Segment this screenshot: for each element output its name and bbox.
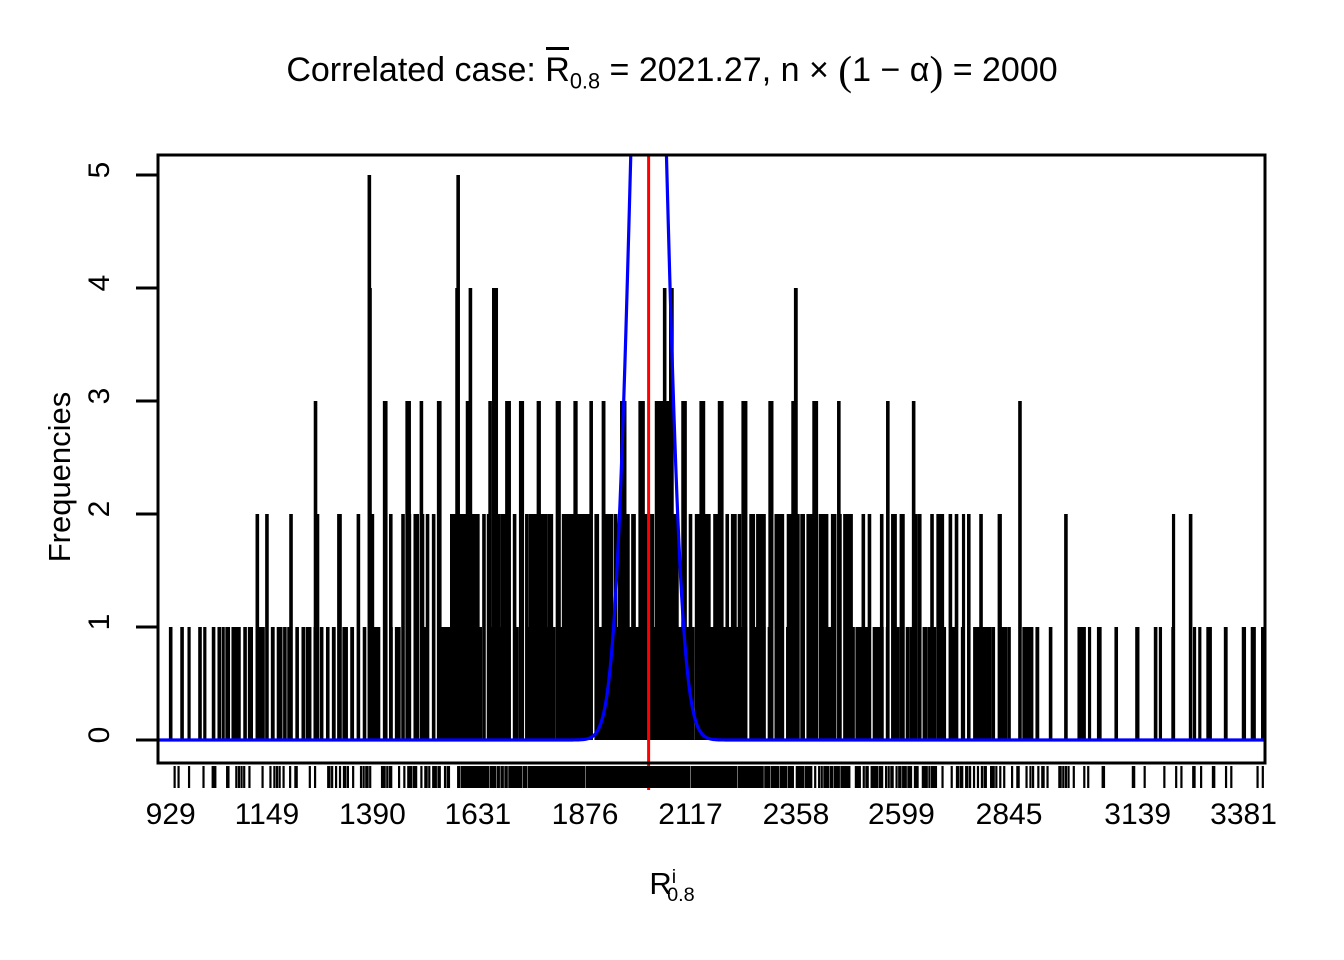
y-tick-label: 1 [83,592,117,652]
x-tick-label: 3381 [1174,798,1314,832]
y-tick-label: 3 [83,366,117,426]
figure-canvas: Correlated case: R0.8 = 2021.27, n × (1 … [0,0,1344,960]
y-tick-label: 0 [83,705,117,765]
histogram-series [169,175,1265,740]
y-axis-ticks [136,175,158,740]
rug-plot [175,766,1263,788]
x-tick-label: 2845 [939,798,1079,832]
y-tick-label: 2 [83,479,117,539]
y-tick-label: 5 [83,140,117,200]
y-tick-label: 4 [83,253,117,313]
